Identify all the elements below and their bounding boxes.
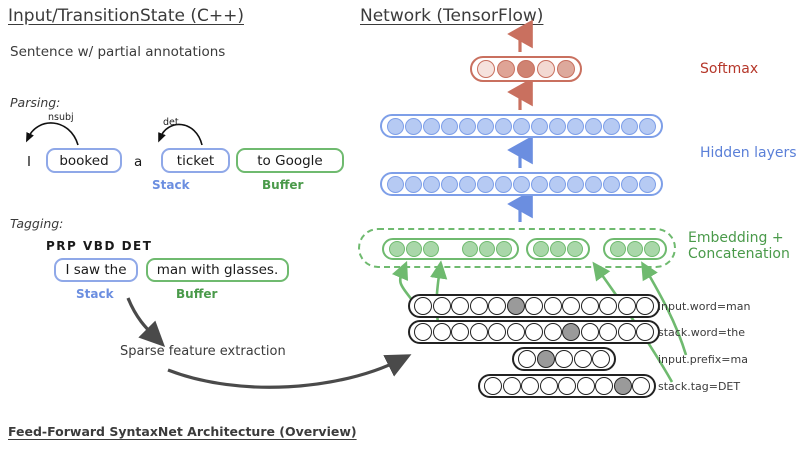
sparse-vector-1-label: stack.word=the [658,326,745,339]
neuron-dot [550,241,566,257]
neuron-dot [549,118,566,135]
neuron-dot [507,323,525,341]
neuron-dot [479,241,495,257]
hidden-layer-2 [380,114,663,138]
neuron-dot [610,241,626,257]
neuron-dot [632,377,650,395]
neuron-dot [497,60,515,78]
neuron-dot [621,118,638,135]
neuron-dot [621,176,638,193]
neuron-dot [544,323,562,341]
neuron-dot [555,350,573,368]
neuron-dot [459,176,476,193]
neuron-dot [603,118,620,135]
neuron-dot [562,297,580,315]
neuron-dot [414,323,432,341]
embedding-box-2 [526,238,590,260]
neuron-dot [406,241,422,257]
sparse-vector-3-label: stack.tag=DET [658,380,740,393]
neuron-dot [433,323,451,341]
neuron-dot [595,377,613,395]
neuron-dot [567,241,583,257]
neuron-dot [531,176,548,193]
neuron-dot [495,176,512,193]
neuron-dot [414,297,432,315]
sparse-vector-2-label: input.prefix=ma [658,353,748,366]
neuron-dot [567,176,584,193]
sparse-vector-0 [408,294,660,318]
neuron-dot [558,377,576,395]
neuron-dot [441,118,458,135]
hidden-layers-side-label: Hidden layers [700,145,797,161]
sparse-vector-0-label: input.word=man [658,300,750,313]
neuron-dot [451,297,469,315]
neuron-dot [525,323,543,341]
neuron-dot [636,297,654,315]
neuron-dot [599,323,617,341]
neuron-dot [636,323,654,341]
neuron-dot [387,176,404,193]
neuron-dot [537,350,555,368]
neuron-dot [531,118,548,135]
neuron-dot [585,118,602,135]
neuron-dot [585,176,602,193]
neuron-dot [470,323,488,341]
neuron-dot [470,297,488,315]
neuron-dot [477,118,494,135]
neuron-dot [405,118,422,135]
neuron-dot [592,350,610,368]
neuron-dot [581,297,599,315]
neuron-dot [507,297,525,315]
neuron-dot [567,118,584,135]
neuron-dot [544,297,562,315]
figure-caption: Feed-Forward SyntaxNet Architecture (Ove… [8,424,357,439]
neuron-dot [477,60,495,78]
neuron-dot [459,118,476,135]
neuron-dot [618,297,636,315]
neuron-dot [639,118,656,135]
neuron-dot [423,118,440,135]
neuron-dot [503,377,521,395]
neuron-dot [537,60,555,78]
neuron-dot [495,118,512,135]
neuron-dot [441,176,458,193]
neuron-dot [423,176,440,193]
neuron-dot [518,350,536,368]
neuron-dot [599,297,617,315]
sparse-vector-3 [478,374,656,398]
neuron-dot [525,297,543,315]
neuron-dot [477,176,494,193]
neuron-dot [549,176,566,193]
embedding-box-3 [603,238,667,260]
neuron-dot [484,377,502,395]
neuron-dot [451,323,469,341]
neuron-dot [488,323,506,341]
neuron-dot [618,323,636,341]
neuron-dot [423,241,439,257]
neuron-dot [639,176,656,193]
neuron-dot [627,241,643,257]
neuron-dot [540,377,558,395]
neuron-dot [517,60,535,78]
neuron-dot [533,241,549,257]
neuron-dot [462,241,478,257]
neuron-dot [387,118,404,135]
neuron-dot [614,377,632,395]
neuron-dot [496,241,512,257]
embedding-side-label-line2: Concatenation [688,246,790,262]
neuron-dot [513,176,530,193]
embedding-side-label-line1: Embedding + [688,230,790,246]
softmax-side-label: Softmax [700,61,758,77]
neuron-dot [574,350,592,368]
embedding-box-1 [382,238,519,260]
neuron-dot [577,377,595,395]
hidden-layer-1 [380,172,663,196]
sparse-vector-1 [408,320,660,344]
neuron-dot [644,241,660,257]
neuron-dot [405,176,422,193]
neuron-dot [557,60,575,78]
neuron-dot [581,323,599,341]
sparse-vector-2 [512,347,616,371]
neuron-dot [433,297,451,315]
neuron-dot [513,118,530,135]
softmax-layer [470,56,582,82]
neuron-dot [562,323,580,341]
neuron-dot [389,241,405,257]
neuron-dot [603,176,620,193]
neuron-dot [521,377,539,395]
neuron-dot [488,297,506,315]
